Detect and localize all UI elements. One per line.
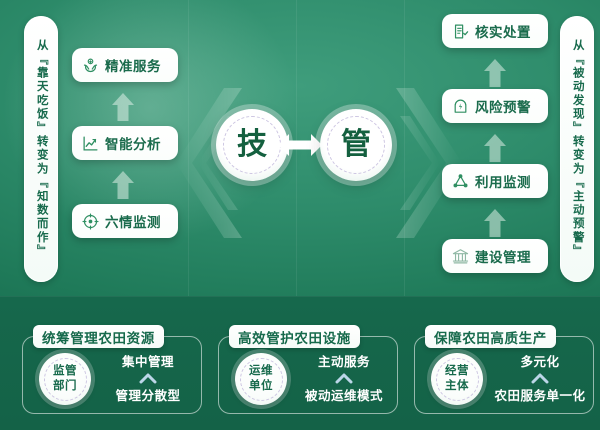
chevron-up-icon <box>335 371 353 384</box>
guide-line-left <box>188 0 189 296</box>
line-chart-icon <box>82 135 99 152</box>
chevron-up-icon <box>139 371 157 384</box>
bottom-panel-actor-circle: 运维 单位 <box>235 353 287 405</box>
flow-arrow-up-right-1 <box>482 58 508 88</box>
guide-line-right <box>404 0 405 296</box>
feature-card-label: 风险预警 <box>475 96 531 116</box>
bottom-panel-to-state: 多元化 <box>520 351 559 370</box>
feature-card-utilization-monitoring[interactable]: 利用监测 <box>442 164 548 198</box>
feature-card-construction-management[interactable]: 建设管理 <box>442 239 548 273</box>
bottom-panel-transition: 主动服务 被动运维模式 <box>297 351 391 404</box>
center-circle-management: 管 <box>320 109 392 181</box>
bottom-panel-transition: 多元化 农田服务单一化 <box>493 351 587 404</box>
chevron-up-icon <box>531 371 549 384</box>
bottom-panel-farmland-facilities: 高效管护农田设施 运维 单位 主动服务 被动运维模式 <box>218 336 398 414</box>
bottom-panel-high-quality-production: 保障农田高质生产 经营 主体 多元化 农田服务单一化 <box>414 336 594 414</box>
bottom-panel-actor-ring: 经营 主体 <box>436 358 479 401</box>
feature-card-verify-disposal[interactable]: 核实处置 <box>442 14 548 48</box>
feature-card-label: 核实处置 <box>475 21 531 41</box>
feature-card-intelligent-analysis[interactable]: 智能分析 <box>72 126 178 160</box>
flow-arrow-up-right-3 <box>482 208 508 238</box>
feature-card-label: 利用监测 <box>475 171 531 191</box>
bottom-panel-title: 高效管护农田设施 <box>229 325 360 348</box>
bottom-panel-actor-ring: 监管 部门 <box>44 358 87 401</box>
shield-alert-icon <box>452 98 469 115</box>
bottom-panel-actor-line2: 主体 <box>445 380 469 393</box>
bottom-panel-title: 保障农田高质生产 <box>425 325 556 348</box>
left-transition-label: 从『靠天吃饭』转变为『知数而作』 <box>24 16 58 282</box>
feature-card-risk-warning[interactable]: 风险预警 <box>442 89 548 123</box>
crosshair-target-icon <box>82 213 99 230</box>
hands-seedling-icon <box>82 57 99 74</box>
bank-building-icon <box>452 248 469 265</box>
bottom-panel-actor-circle: 监管 部门 <box>39 353 91 405</box>
bottom-panel-actor-line1: 监管 <box>53 365 77 378</box>
center-circle-technology-ring: 技 <box>223 116 281 174</box>
left-transition-label-text: 从『靠天吃饭』转变为『知数而作』 <box>35 39 47 258</box>
right-transition-label-text: 从『被动发现』转变为『主动预警』 <box>571 39 583 258</box>
center-circle-management-char: 管 <box>341 130 371 160</box>
bottom-panel-title: 统筹管理农田资源 <box>33 325 164 348</box>
feature-card-precise-service[interactable]: 精准服务 <box>72 48 178 82</box>
bottom-panel-actor-circle: 经营 主体 <box>431 353 483 405</box>
bottom-panel-from-state: 农田服务单一化 <box>494 385 585 404</box>
feature-card-label: 建设管理 <box>475 246 531 266</box>
right-transition-label: 从『被动发现』转变为『主动预警』 <box>560 16 594 282</box>
feature-card-six-condition-monitoring[interactable]: 六情监测 <box>72 204 178 238</box>
bottom-panel-actor-ring: 运维 单位 <box>240 358 283 401</box>
clipboard-check-icon <box>452 23 469 40</box>
bottom-panel-actor-line1: 运维 <box>249 365 273 378</box>
infographic-canvas: 从『靠天吃饭』转变为『知数而作』 从『被动发现』转变为『主动预警』 精准服务 智… <box>0 0 600 430</box>
bottom-panel-actor-line1: 经营 <box>445 365 469 378</box>
bottom-panel-from-state: 被动运维模式 <box>305 385 383 404</box>
bottom-panel-transition: 集中管理 管理分散型 <box>101 351 195 404</box>
center-circle-technology-char: 技 <box>237 130 267 160</box>
band-divider <box>0 296 600 297</box>
bottom-panel-to-state: 集中管理 <box>122 351 174 370</box>
bottom-panel-from-state: 管理分散型 <box>115 385 180 404</box>
flow-arrow-up-left-2 <box>110 170 136 200</box>
feature-card-label: 六情监测 <box>105 211 161 231</box>
bottom-panel-to-state: 主动服务 <box>318 351 370 370</box>
feature-card-label: 精准服务 <box>105 55 161 75</box>
flow-arrow-up-left-1 <box>110 92 136 122</box>
flow-arrow-up-right-2 <box>482 133 508 163</box>
feature-card-label: 智能分析 <box>105 133 161 153</box>
bottom-panel-actor-line2: 单位 <box>249 380 273 393</box>
bottom-panel-farmland-resources: 统筹管理农田资源 监管 部门 集中管理 管理分散型 <box>22 336 202 414</box>
bottom-panel-actor-line2: 部门 <box>53 380 77 393</box>
recycle-nodes-icon <box>452 173 469 190</box>
bidirectional-arrow-icon <box>277 131 323 159</box>
center-circle-management-ring: 管 <box>327 116 385 174</box>
